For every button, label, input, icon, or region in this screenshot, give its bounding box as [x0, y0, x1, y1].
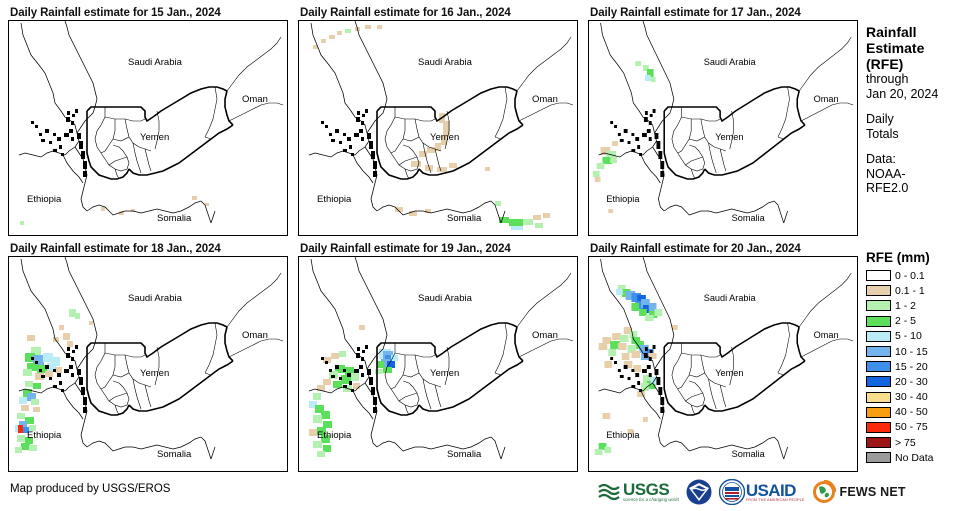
- coastline-2: [309, 21, 505, 223]
- map-panel-4[interactable]: Daily Rainfall estimate for 18 Jan., 202…: [8, 242, 286, 472]
- legend-label: 1 - 2: [895, 300, 916, 312]
- map-canvas-4: Saudi Arabia Oman Yemen Ethiopia Somalia: [9, 257, 287, 471]
- map-canvas-1: Saudi Arabia Oman Yemen Ethiopia Somalia: [9, 21, 287, 235]
- map-canvas-6: Saudi Arabia Oman Yemen Ethiopia Somalia: [589, 257, 857, 471]
- admin-borders-2: [385, 37, 573, 179]
- legend-label: 30 - 40: [895, 391, 928, 403]
- label-somalia: Somalia: [157, 449, 192, 460]
- panel-title-4: Daily Rainfall estimate for 18 Jan., 202…: [8, 242, 286, 256]
- legend-item[interactable]: 5 - 10: [866, 329, 967, 344]
- country-labels-2: Saudi Arabia Oman Yemen Ethiopia Somalia: [317, 57, 558, 224]
- info-source-1: NOAA-: [866, 167, 967, 182]
- label-yemen: Yemen: [140, 368, 169, 379]
- info-data-label: Data:: [866, 152, 967, 167]
- panel-title-2: Daily Rainfall estimate for 16 Jan., 202…: [298, 6, 576, 20]
- label-saudi-arabia: Saudi Arabia: [418, 57, 473, 68]
- terrain-speckles-3: [610, 109, 664, 177]
- label-oman: Oman: [532, 94, 558, 105]
- info-source-2: RFE2.0: [866, 181, 967, 196]
- label-yemen: Yemen: [430, 132, 459, 143]
- label-oman: Oman: [242, 94, 268, 105]
- label-saudi-arabia: Saudi Arabia: [128, 293, 183, 304]
- legend-label: 0.1 - 1: [895, 285, 925, 297]
- usgs-wave-icon: [598, 482, 622, 502]
- label-yemen: Yemen: [715, 368, 743, 378]
- legend-swatch: [866, 437, 891, 448]
- label-oman: Oman: [532, 330, 558, 341]
- legend-label: 2 - 5: [895, 315, 916, 327]
- label-yemen: Yemen: [140, 132, 169, 143]
- legend-item[interactable]: 40 - 50: [866, 405, 967, 420]
- label-saudi-arabia: Saudi Arabia: [704, 57, 757, 67]
- admin-borders-5: [385, 273, 573, 415]
- map-canvas-2: Saudi Arabia Oman Yemen Ethiopia Somalia: [299, 21, 577, 235]
- map-frame-2[interactable]: Saudi Arabia Oman Yemen Ethiopia Somalia: [298, 20, 578, 236]
- map-credit: Map produced by USGS/EROS: [10, 483, 170, 495]
- legend-label: 15 - 20: [895, 361, 928, 373]
- legend-item[interactable]: 10 - 15: [866, 344, 967, 359]
- map-frame-3[interactable]: Saudi Arabia Oman Yemen Ethiopia Somalia: [588, 20, 858, 236]
- label-oman: Oman: [814, 94, 839, 104]
- legend-item[interactable]: 20 - 30: [866, 374, 967, 389]
- info-date: Jan 20, 2024: [866, 87, 967, 102]
- fews-globe-icon: [812, 480, 836, 504]
- usgs-label: USGS: [623, 482, 679, 497]
- map-canvas-5: Saudi Arabia Oman Yemen Ethiopia Somalia: [299, 257, 577, 471]
- legend-item[interactable]: 15 - 20: [866, 359, 967, 374]
- panel-title-5: Daily Rainfall estimate for 19 Jan., 202…: [298, 242, 576, 256]
- legend-swatch: [866, 392, 891, 403]
- legend-item[interactable]: No Data: [866, 450, 967, 465]
- map-panel-3[interactable]: Daily Rainfall estimate for 17 Jan., 202…: [588, 6, 866, 236]
- legend: RFE (mm) 0 - 0.10.1 - 11 - 22 - 55 - 101…: [866, 250, 967, 465]
- legend-swatch: [866, 452, 891, 463]
- legend-swatch: [866, 361, 891, 372]
- usaid-label: USAID: [746, 483, 805, 498]
- country-labels-1: Saudi Arabia Oman Yemen Ethiopia Somalia: [27, 57, 268, 224]
- panel-title-3: Daily Rainfall estimate for 17 Jan., 202…: [588, 6, 866, 20]
- legend-label: 50 - 75: [895, 421, 928, 433]
- info-through: through: [866, 72, 967, 87]
- fews-net-logo[interactable]: FEWS NET: [812, 478, 906, 506]
- map-panel-1[interactable]: Daily Rainfall estimate for 15 Jan., 202…: [8, 6, 286, 236]
- map-frame-4[interactable]: Saudi Arabia Oman Yemen Ethiopia Somalia: [8, 256, 288, 472]
- admin-borders-3: [672, 37, 853, 179]
- legend-item[interactable]: 30 - 40: [866, 390, 967, 405]
- legend-swatch: [866, 346, 891, 357]
- info-title-line1: Rainfall: [866, 24, 967, 40]
- info-title-line3: (RFE): [866, 56, 967, 72]
- legend-label: 0 - 0.1: [895, 270, 925, 282]
- map-frame-6[interactable]: Saudi Arabia Oman Yemen Ethiopia Somalia: [588, 256, 858, 472]
- map-frame-5[interactable]: Saudi Arabia Oman Yemen Ethiopia Somalia: [298, 256, 578, 472]
- terrain-speckles-1: [31, 109, 87, 177]
- map-canvas-3: Saudi Arabia Oman Yemen Ethiopia Somalia: [589, 21, 857, 235]
- info-daily: Daily: [866, 112, 967, 127]
- country-labels-3: Saudi Arabia Oman Yemen Ethiopia Somalia: [606, 57, 838, 223]
- legend-label: 40 - 50: [895, 406, 928, 418]
- label-ethiopia: Ethiopia: [27, 194, 62, 205]
- legend-swatch: [866, 331, 891, 342]
- noaa-seal-icon: [686, 479, 712, 505]
- usaid-seal-icon: [719, 479, 745, 505]
- legend-label: 5 - 10: [895, 330, 922, 342]
- legend-swatch: [866, 270, 891, 281]
- label-ethiopia: Ethiopia: [606, 194, 640, 204]
- label-yemen: Yemen: [430, 368, 459, 379]
- map-panel-6[interactable]: Daily Rainfall estimate for 20 Jan., 202…: [588, 242, 866, 472]
- usgs-tagline: science for a changing world: [623, 497, 679, 502]
- usaid-tagline: FROM THE AMERICAN PEOPLE: [746, 498, 805, 502]
- legend-item[interactable]: 2 - 5: [866, 314, 967, 329]
- label-ethiopia: Ethiopia: [317, 194, 352, 205]
- country-labels-6: Saudi Arabia Oman Yemen Ethiopia Somalia: [606, 293, 838, 459]
- legend-title: RFE (mm): [866, 250, 967, 265]
- coastline-1: [19, 21, 215, 223]
- legend-label: 20 - 30: [895, 376, 928, 388]
- label-somalia: Somalia: [732, 213, 766, 223]
- legend-rows: 0 - 0.10.1 - 11 - 22 - 55 - 1010 - 1515 …: [866, 268, 967, 465]
- info-title-line2: Estimate: [866, 40, 967, 56]
- admin-borders-4: [95, 273, 283, 415]
- legend-label: 10 - 15: [895, 346, 928, 358]
- legend-swatch: [866, 285, 891, 296]
- legend-swatch: [866, 376, 891, 387]
- panel-title-6: Daily Rainfall estimate for 20 Jan., 202…: [588, 242, 866, 256]
- legend-swatch: [866, 422, 891, 433]
- terrain-speckles-2: [321, 109, 377, 177]
- label-ethiopia: Ethiopia: [606, 430, 640, 440]
- coastline-3: [599, 21, 788, 223]
- admin-borders-1: [95, 37, 283, 179]
- panel-title-1: Daily Rainfall estimate for 15 Jan., 202…: [8, 6, 286, 20]
- map-panel-2[interactable]: Daily Rainfall estimate for 16 Jan., 202…: [298, 6, 576, 236]
- map-panel-5[interactable]: Daily Rainfall estimate for 19 Jan., 202…: [298, 242, 576, 472]
- admin-borders-6: [672, 273, 853, 415]
- legend-swatch: [866, 316, 891, 327]
- legend-swatch: [866, 407, 891, 418]
- label-somalia: Somalia: [447, 213, 482, 224]
- legend-item[interactable]: 0 - 0.1: [866, 268, 967, 283]
- label-somalia: Somalia: [157, 213, 192, 224]
- label-saudi-arabia: Saudi Arabia: [418, 293, 473, 304]
- label-somalia: Somalia: [732, 449, 766, 459]
- legend-label: No Data: [895, 452, 934, 464]
- legend-item[interactable]: > 75: [866, 435, 967, 450]
- usgs-logo[interactable]: USGS science for a changing world: [598, 478, 679, 506]
- info-panel: Rainfall Estimate (RFE) through Jan 20, …: [866, 24, 967, 196]
- country-labels-4: Saudi Arabia Oman Yemen Ethiopia Somalia: [27, 293, 268, 460]
- fews-net-label: FEWS NET: [840, 485, 906, 499]
- label-ethiopia: Ethiopia: [27, 430, 62, 441]
- legend-label: > 75: [895, 437, 916, 449]
- label-saudi-arabia: Saudi Arabia: [704, 293, 757, 303]
- label-oman: Oman: [814, 330, 839, 340]
- label-somalia: Somalia: [447, 449, 482, 460]
- rfe-map-page: Daily Rainfall estimate for 15 Jan., 202…: [0, 0, 967, 511]
- legend-item[interactable]: 1 - 2: [866, 298, 967, 313]
- label-saudi-arabia: Saudi Arabia: [128, 57, 183, 68]
- label-yemen: Yemen: [715, 132, 743, 142]
- info-totals: Totals: [866, 127, 967, 142]
- noaa-logo[interactable]: [686, 478, 712, 506]
- legend-item[interactable]: 50 - 75: [866, 420, 967, 435]
- map-frame-1[interactable]: Saudi Arabia Oman Yemen Ethiopia Somalia: [8, 20, 288, 236]
- label-oman: Oman: [242, 330, 268, 341]
- usaid-logo[interactable]: USAID FROM THE AMERICAN PEOPLE: [719, 478, 805, 506]
- legend-item[interactable]: 0.1 - 1: [866, 283, 967, 298]
- legend-swatch: [866, 300, 891, 311]
- label-ethiopia: Ethiopia: [317, 430, 352, 441]
- logo-strip: USGS science for a changing world: [598, 478, 906, 506]
